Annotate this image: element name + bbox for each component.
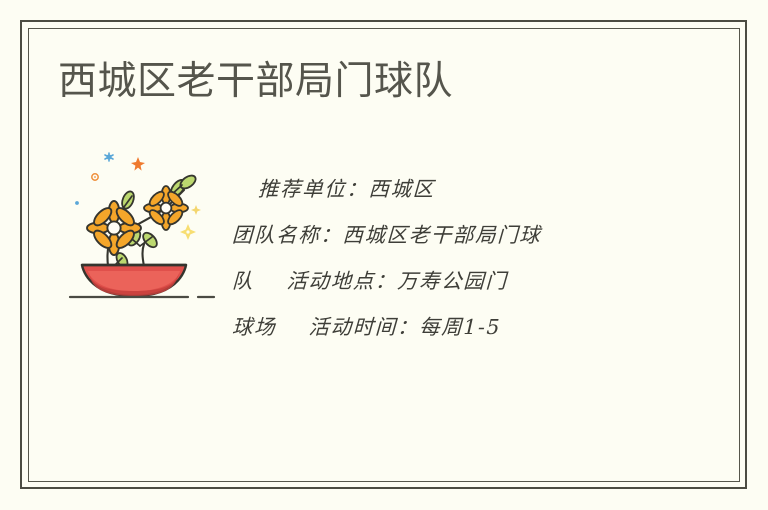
detail-line-4: 球场 活动时间：每周1-5: [231, 304, 653, 350]
flower-large: [87, 201, 141, 255]
flower-pot: [82, 265, 186, 296]
yellow-sparkle-icon: [180, 224, 196, 240]
orange-ring-icon: [92, 174, 98, 180]
page-title: 西城区老干部局门球队: [58, 61, 453, 104]
detail-line-1: 推荐单位：西城区: [231, 166, 653, 212]
detail-line-2: 团队名称：西城区老干部局门球: [231, 212, 653, 258]
potted-flowers-illustration: [62, 140, 222, 310]
orange-star-icon: [131, 157, 145, 171]
detail-line-3: 队 活动地点：万寿公园门: [231, 258, 653, 304]
blue-dot-icon: [75, 201, 79, 205]
team-details-block: 推荐单位：西城区 团队名称：西城区老干部局门球 队 活动地点：万寿公园门 球场 …: [232, 166, 652, 350]
promo-card: 西城区老干部局门球队: [0, 0, 768, 510]
blue-snowflake-icon: [105, 153, 113, 161]
yellow-small-sparkle-icon: [191, 205, 201, 215]
